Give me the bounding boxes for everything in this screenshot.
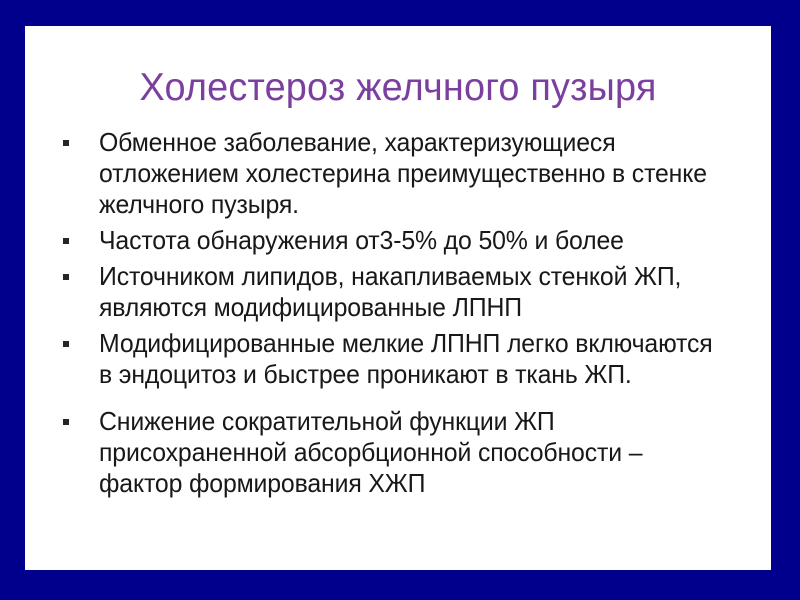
list-item: Обменное заболевание, характеризующиеся … — [63, 127, 753, 220]
list-item: Частота обнаружения от3-5% до 50% и боле… — [63, 225, 753, 256]
list-item: Источником липидов, накапливаемых стенко… — [63, 261, 753, 323]
list-item: Снижение сократительной функции ЖП присо… — [63, 406, 753, 499]
list-item-text: Снижение сократительной функции ЖП присо… — [99, 406, 724, 499]
square-bullet-icon — [63, 341, 69, 347]
list-item-text: Источником липидов, накапливаемых стенко… — [99, 261, 724, 323]
list-item-text: Модифицированные мелкие ЛПНП легко включ… — [99, 328, 724, 390]
presentation-slide: Холестероз желчного пузыря Обменное забо… — [0, 0, 800, 600]
list-item-text: Обменное заболевание, характеризующиеся … — [99, 127, 724, 220]
square-bullet-icon — [63, 274, 69, 280]
square-bullet-icon — [63, 419, 69, 425]
list-item: Модифицированные мелкие ЛПНП легко включ… — [63, 328, 753, 390]
page-title: Холестероз желчного пузыря — [36, 68, 760, 109]
slide-content-area: Холестероз желчного пузыря Обменное забо… — [25, 26, 771, 570]
bullet-list: Обменное заболевание, характеризующиеся … — [63, 127, 753, 504]
list-item-text: Частота обнаружения от3-5% до 50% и боле… — [99, 225, 724, 256]
square-bullet-icon — [63, 238, 69, 244]
square-bullet-icon — [63, 140, 69, 146]
